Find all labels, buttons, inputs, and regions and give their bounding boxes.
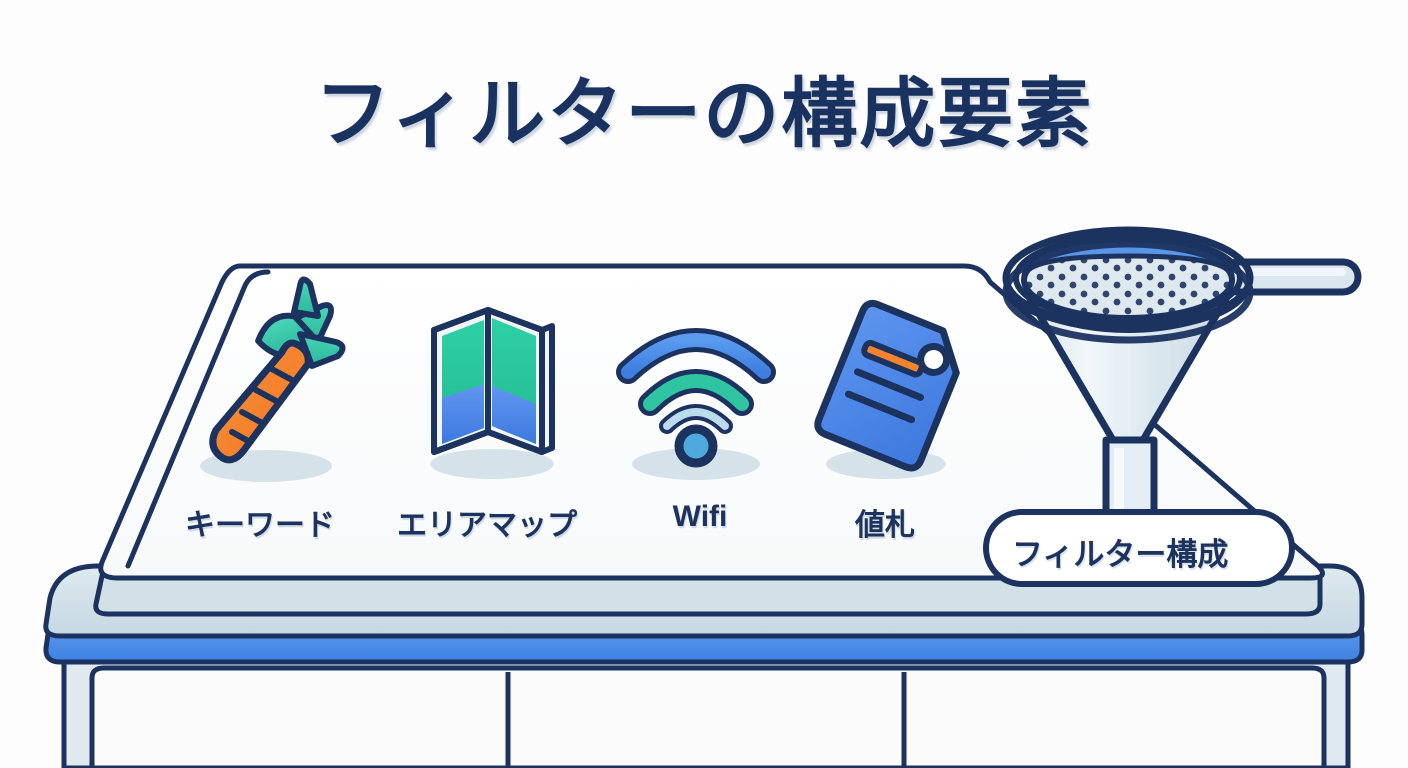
map-icon — [434, 310, 552, 452]
icon-label-area-map: エリアマップ — [374, 500, 600, 544]
table-apron — [64, 660, 1348, 768]
icon-label-wifi: Wifi — [630, 500, 770, 534]
icon-label-keyword: キーワード — [170, 500, 350, 544]
filter-badge-label: フィルター構成 — [1012, 529, 1228, 574]
wifi-dot — [679, 429, 713, 463]
illustration-root: フィルターの構成要素 キーワード エリアマップ Wifi 値札 フィルター構成 — [0, 0, 1408, 768]
scene-svg — [0, 0, 1408, 768]
map-shadow — [430, 449, 554, 479]
icon-label-price-tag: 値札 — [830, 500, 940, 544]
